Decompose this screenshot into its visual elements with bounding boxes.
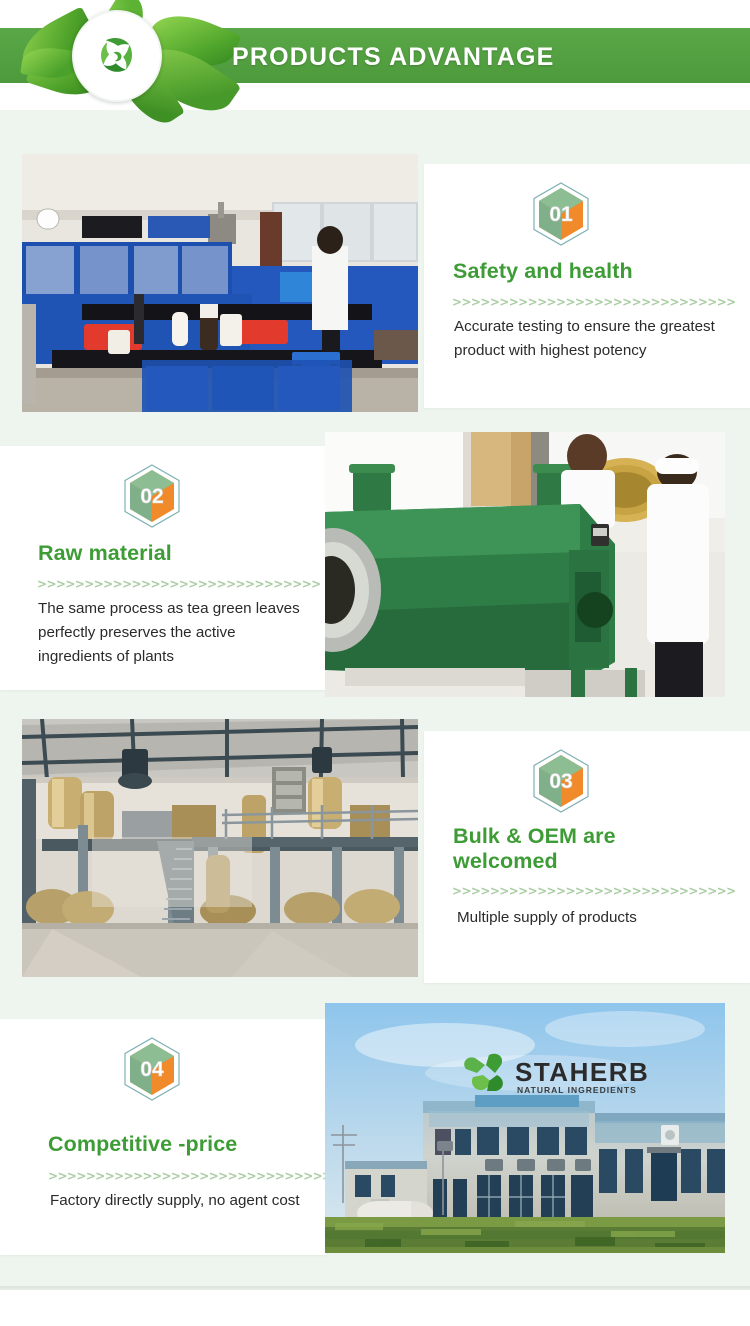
step-badge-03-icon: 03 xyxy=(532,749,590,813)
step-badge-01-icon: 01 xyxy=(532,182,590,246)
advantage-card-4: 04 Competitive -price >>>>>>>>>>>>>>>>>>… xyxy=(0,1019,326,1255)
advantage-row-2: 02 Raw material >>>>>>>>>>>>>>>>>>>>>>>>… xyxy=(0,432,750,697)
advantage-photo-1 xyxy=(22,154,418,412)
advantage-card-1: 01 Safety and health >>>>>>>>>>>>>>>>>>>… xyxy=(424,164,750,408)
advantage-title-3: Bulk & OEM are welcomed xyxy=(453,824,679,874)
page-header: PRODUCTS ADVANTAGE xyxy=(0,0,750,110)
advantage-arrow-divider-2: >>>>>>>>>>>>>>>>>>>>>>>>>>>>>> xyxy=(37,577,321,591)
step-number-01: 01 xyxy=(549,203,573,226)
green-tea-roasting-machine-photo xyxy=(325,432,725,697)
advantage-body-4: Factory directly supply, no agent cost xyxy=(50,1189,300,1213)
step-badge-04-icon: 04 xyxy=(123,1037,181,1101)
factory-sign-tagline: NATURAL INGREDIENTS xyxy=(517,1085,637,1095)
advantage-body-3: Multiple supply of products xyxy=(457,906,697,930)
advantage-body-1: Accurate testing to ensure the greatest … xyxy=(454,315,722,363)
extraction-workshop-photo xyxy=(22,719,418,977)
page-title: PRODUCTS ADVANTAGE xyxy=(232,43,555,72)
products-advantage-page: PRODUCTS ADVANTAGE 01 Safety and health … xyxy=(0,0,750,1326)
advantage-body-2: The same process as tea green leaves per… xyxy=(38,597,310,669)
advantage-card-3: 03 Bulk & OEM are welcomed >>>>>>>>>>>>>… xyxy=(424,731,750,983)
advantage-photo-3 xyxy=(22,719,418,977)
staherb-leaf-logo-icon xyxy=(89,28,145,84)
step-number-02: 02 xyxy=(140,485,163,508)
advantage-photo-4: STAHERB NATURAL INGREDIENTS xyxy=(325,1003,725,1253)
brand-logo xyxy=(72,10,162,102)
advantage-title-2: Raw material xyxy=(38,541,310,566)
advantage-row-4: 04 Competitive -price >>>>>>>>>>>>>>>>>>… xyxy=(0,1003,750,1253)
step-number-04: 04 xyxy=(140,1058,164,1081)
step-badge-02-icon: 02 xyxy=(123,464,181,528)
laboratory-testing-photo xyxy=(22,154,418,412)
bottom-white-band xyxy=(0,1290,750,1326)
step-number-03: 03 xyxy=(549,770,572,793)
staherb-factory-building-photo: STAHERB NATURAL INGREDIENTS xyxy=(325,1003,725,1253)
factory-sign-brand: STAHERB xyxy=(515,1057,649,1087)
advantage-row-1: 01 Safety and health >>>>>>>>>>>>>>>>>>>… xyxy=(0,150,750,415)
advantage-photo-2 xyxy=(325,432,725,697)
advantage-arrow-divider-3: >>>>>>>>>>>>>>>>>>>>>>>>>>>>>> xyxy=(452,884,736,898)
advantage-title-1: Safety and health xyxy=(453,259,733,284)
advantage-arrow-divider-4: >>>>>>>>>>>>>>>>>>>>>>>>>>>>>> xyxy=(48,1169,332,1183)
advantage-title-4: Competitive -price xyxy=(48,1132,310,1157)
advantage-row-3: 03 Bulk & OEM are welcomed >>>>>>>>>>>>>… xyxy=(0,715,750,985)
advantage-arrow-divider-1: >>>>>>>>>>>>>>>>>>>>>>>>>>>>>> xyxy=(452,295,736,309)
advantage-card-2: 02 Raw material >>>>>>>>>>>>>>>>>>>>>>>>… xyxy=(0,446,326,690)
